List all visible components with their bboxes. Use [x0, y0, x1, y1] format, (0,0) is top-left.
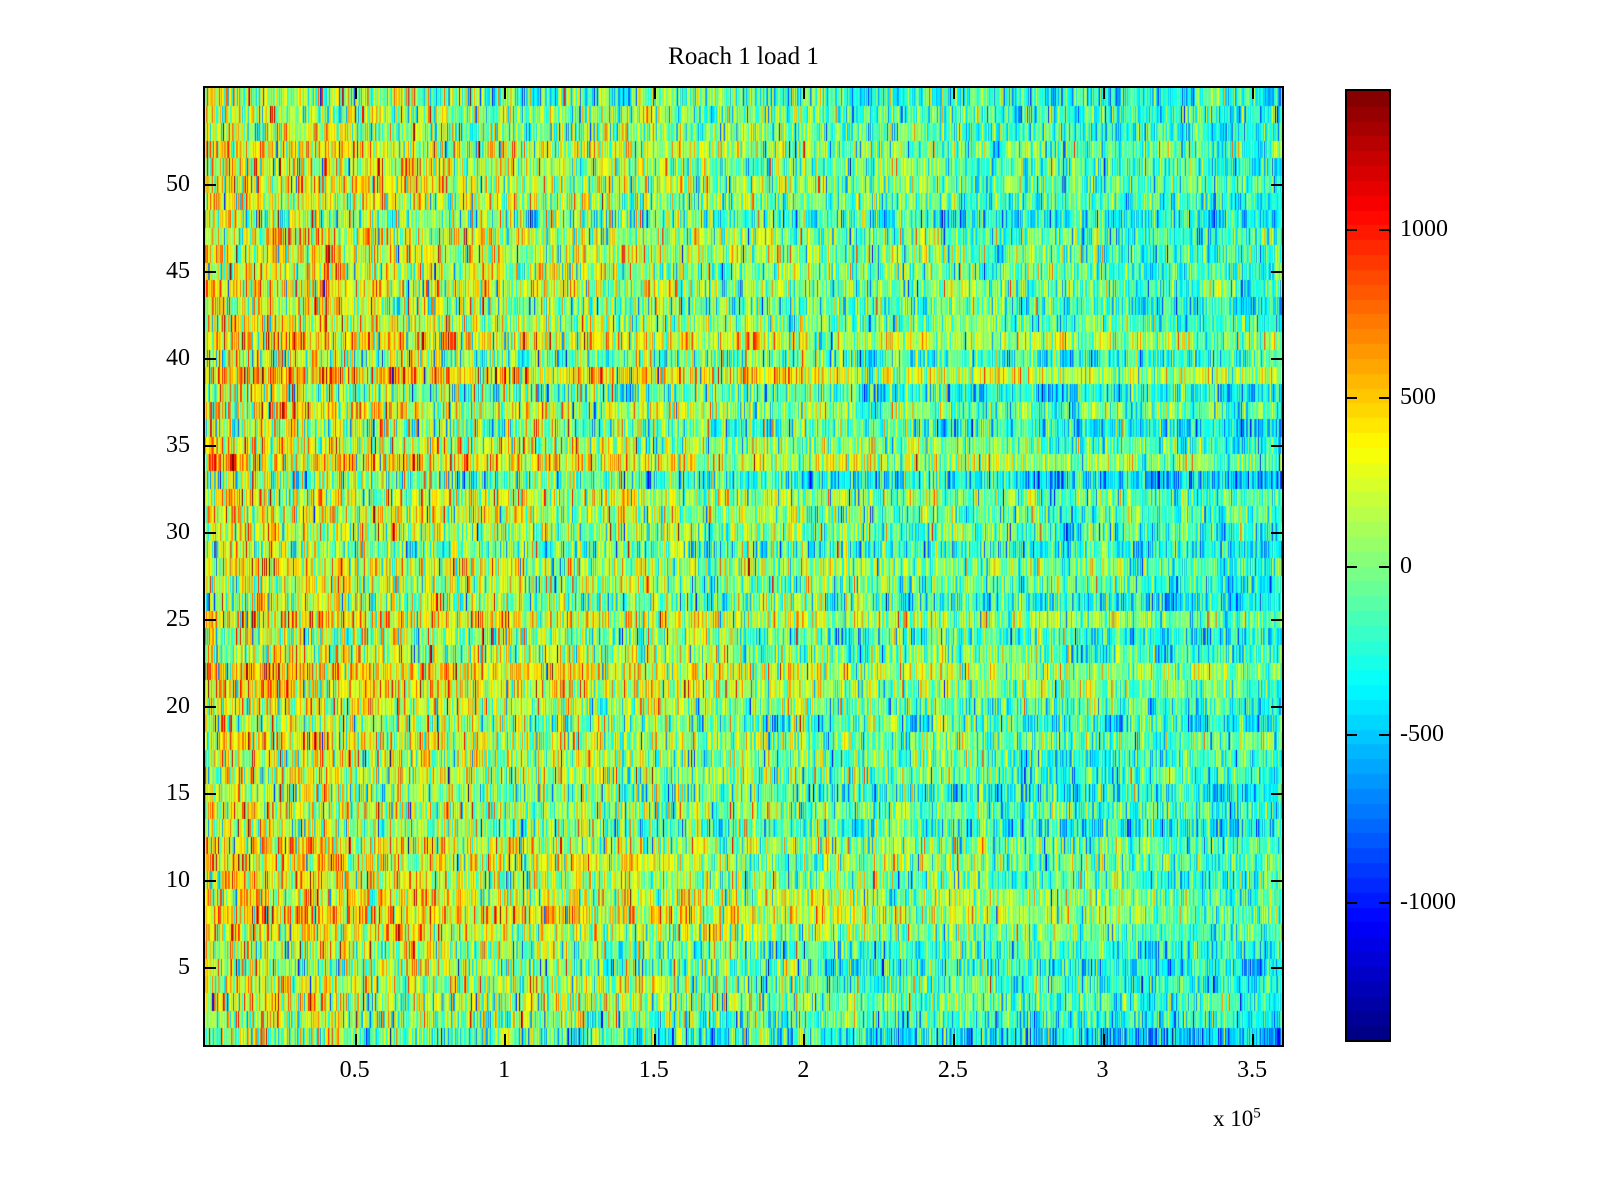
colorbar-tick-label: 1000	[1400, 215, 1448, 243]
colorbar[interactable]	[1345, 89, 1391, 1042]
y-axis-tick-label: 10	[166, 866, 190, 894]
y-axis-tick	[1271, 793, 1282, 795]
x-axis-tick	[803, 1034, 805, 1045]
colorbar-tick	[1347, 229, 1357, 231]
heatmap-image[interactable]	[205, 88, 1282, 1045]
x-exponent-base: x 10	[1213, 1106, 1253, 1131]
y-axis-tick	[205, 880, 216, 882]
matlab-figure: Roach 1 load 1 0.511.522.533.5 510152025…	[0, 0, 1600, 1200]
colorbar-tick	[1379, 566, 1389, 568]
y-axis-tick	[205, 271, 216, 273]
y-axis-tick-label: 40	[166, 344, 190, 372]
x-axis-tick	[355, 88, 357, 99]
colorbar-tick-label: 500	[1400, 383, 1436, 411]
y-axis-tick	[1271, 967, 1282, 969]
y-axis-tick	[1271, 184, 1282, 186]
colorbar-tick	[1347, 734, 1357, 736]
y-axis-tick	[1271, 445, 1282, 447]
y-axis-tick	[1271, 532, 1282, 534]
page-title: Roach 1 load 1	[203, 42, 1284, 72]
x-axis-tick	[1252, 1034, 1254, 1045]
y-axis-tick	[205, 358, 216, 360]
y-axis-tick	[1271, 619, 1282, 621]
x-axis-tick	[504, 1034, 506, 1045]
x-axis-tick-label: 3	[1097, 1056, 1109, 1084]
x-axis-tick	[654, 88, 656, 99]
y-axis-tick-label: 45	[166, 257, 190, 285]
x-axis-tick	[803, 88, 805, 99]
x-axis-tick	[1103, 88, 1105, 99]
x-axis-tick	[355, 1034, 357, 1045]
y-axis-tick-label: 20	[166, 692, 190, 720]
colorbar-tick	[1379, 229, 1389, 231]
x-axis-tick-label: 2	[797, 1056, 809, 1084]
x-axis-tick-label: 3.5	[1237, 1056, 1267, 1084]
colorbar-tick-label: -1000	[1400, 888, 1456, 916]
y-axis-tick	[205, 532, 216, 534]
x-axis-tick	[953, 1034, 955, 1045]
x-axis-exponent-label: x 105	[1213, 1106, 1261, 1132]
colorbar-tick-label: -500	[1400, 720, 1444, 748]
y-axis-tick	[205, 793, 216, 795]
y-axis-tick	[205, 706, 216, 708]
x-axis-tick	[504, 88, 506, 99]
colorbar-tick	[1379, 734, 1389, 736]
y-axis-tick-label: 5	[178, 953, 190, 981]
x-axis-tick	[1252, 88, 1254, 99]
x-exponent-power: 5	[1253, 1105, 1261, 1121]
colorbar-tick	[1379, 397, 1389, 399]
x-axis-tick-label: 2.5	[938, 1056, 968, 1084]
x-axis-tick	[1103, 1034, 1105, 1045]
x-axis-tick	[953, 88, 955, 99]
colorbar-tick	[1347, 566, 1357, 568]
y-axis-tick	[205, 445, 216, 447]
y-axis-tick-label: 15	[166, 779, 190, 807]
x-axis-tick-label: 1.5	[639, 1056, 669, 1084]
y-axis-tick	[1271, 271, 1282, 273]
colorbar-tick	[1347, 397, 1357, 399]
y-axis-tick	[1271, 358, 1282, 360]
heatmap-axes[interactable]	[203, 86, 1284, 1047]
y-axis-tick	[205, 184, 216, 186]
y-axis-tick-label: 30	[166, 518, 190, 546]
colorbar-tick	[1347, 902, 1357, 904]
y-axis-tick-label: 50	[166, 170, 190, 198]
colorbar-tick	[1379, 902, 1389, 904]
y-axis-tick	[1271, 880, 1282, 882]
x-axis-tick-label: 0.5	[340, 1056, 370, 1084]
y-axis-tick	[1271, 706, 1282, 708]
y-axis-tick	[205, 619, 216, 621]
y-axis-tick-label: 35	[166, 431, 190, 459]
colorbar-tick-label: 0	[1400, 552, 1412, 580]
y-axis-tick-label: 25	[166, 605, 190, 633]
x-axis-tick-label: 1	[498, 1056, 510, 1084]
x-axis-tick	[654, 1034, 656, 1045]
y-axis-tick	[205, 967, 216, 969]
